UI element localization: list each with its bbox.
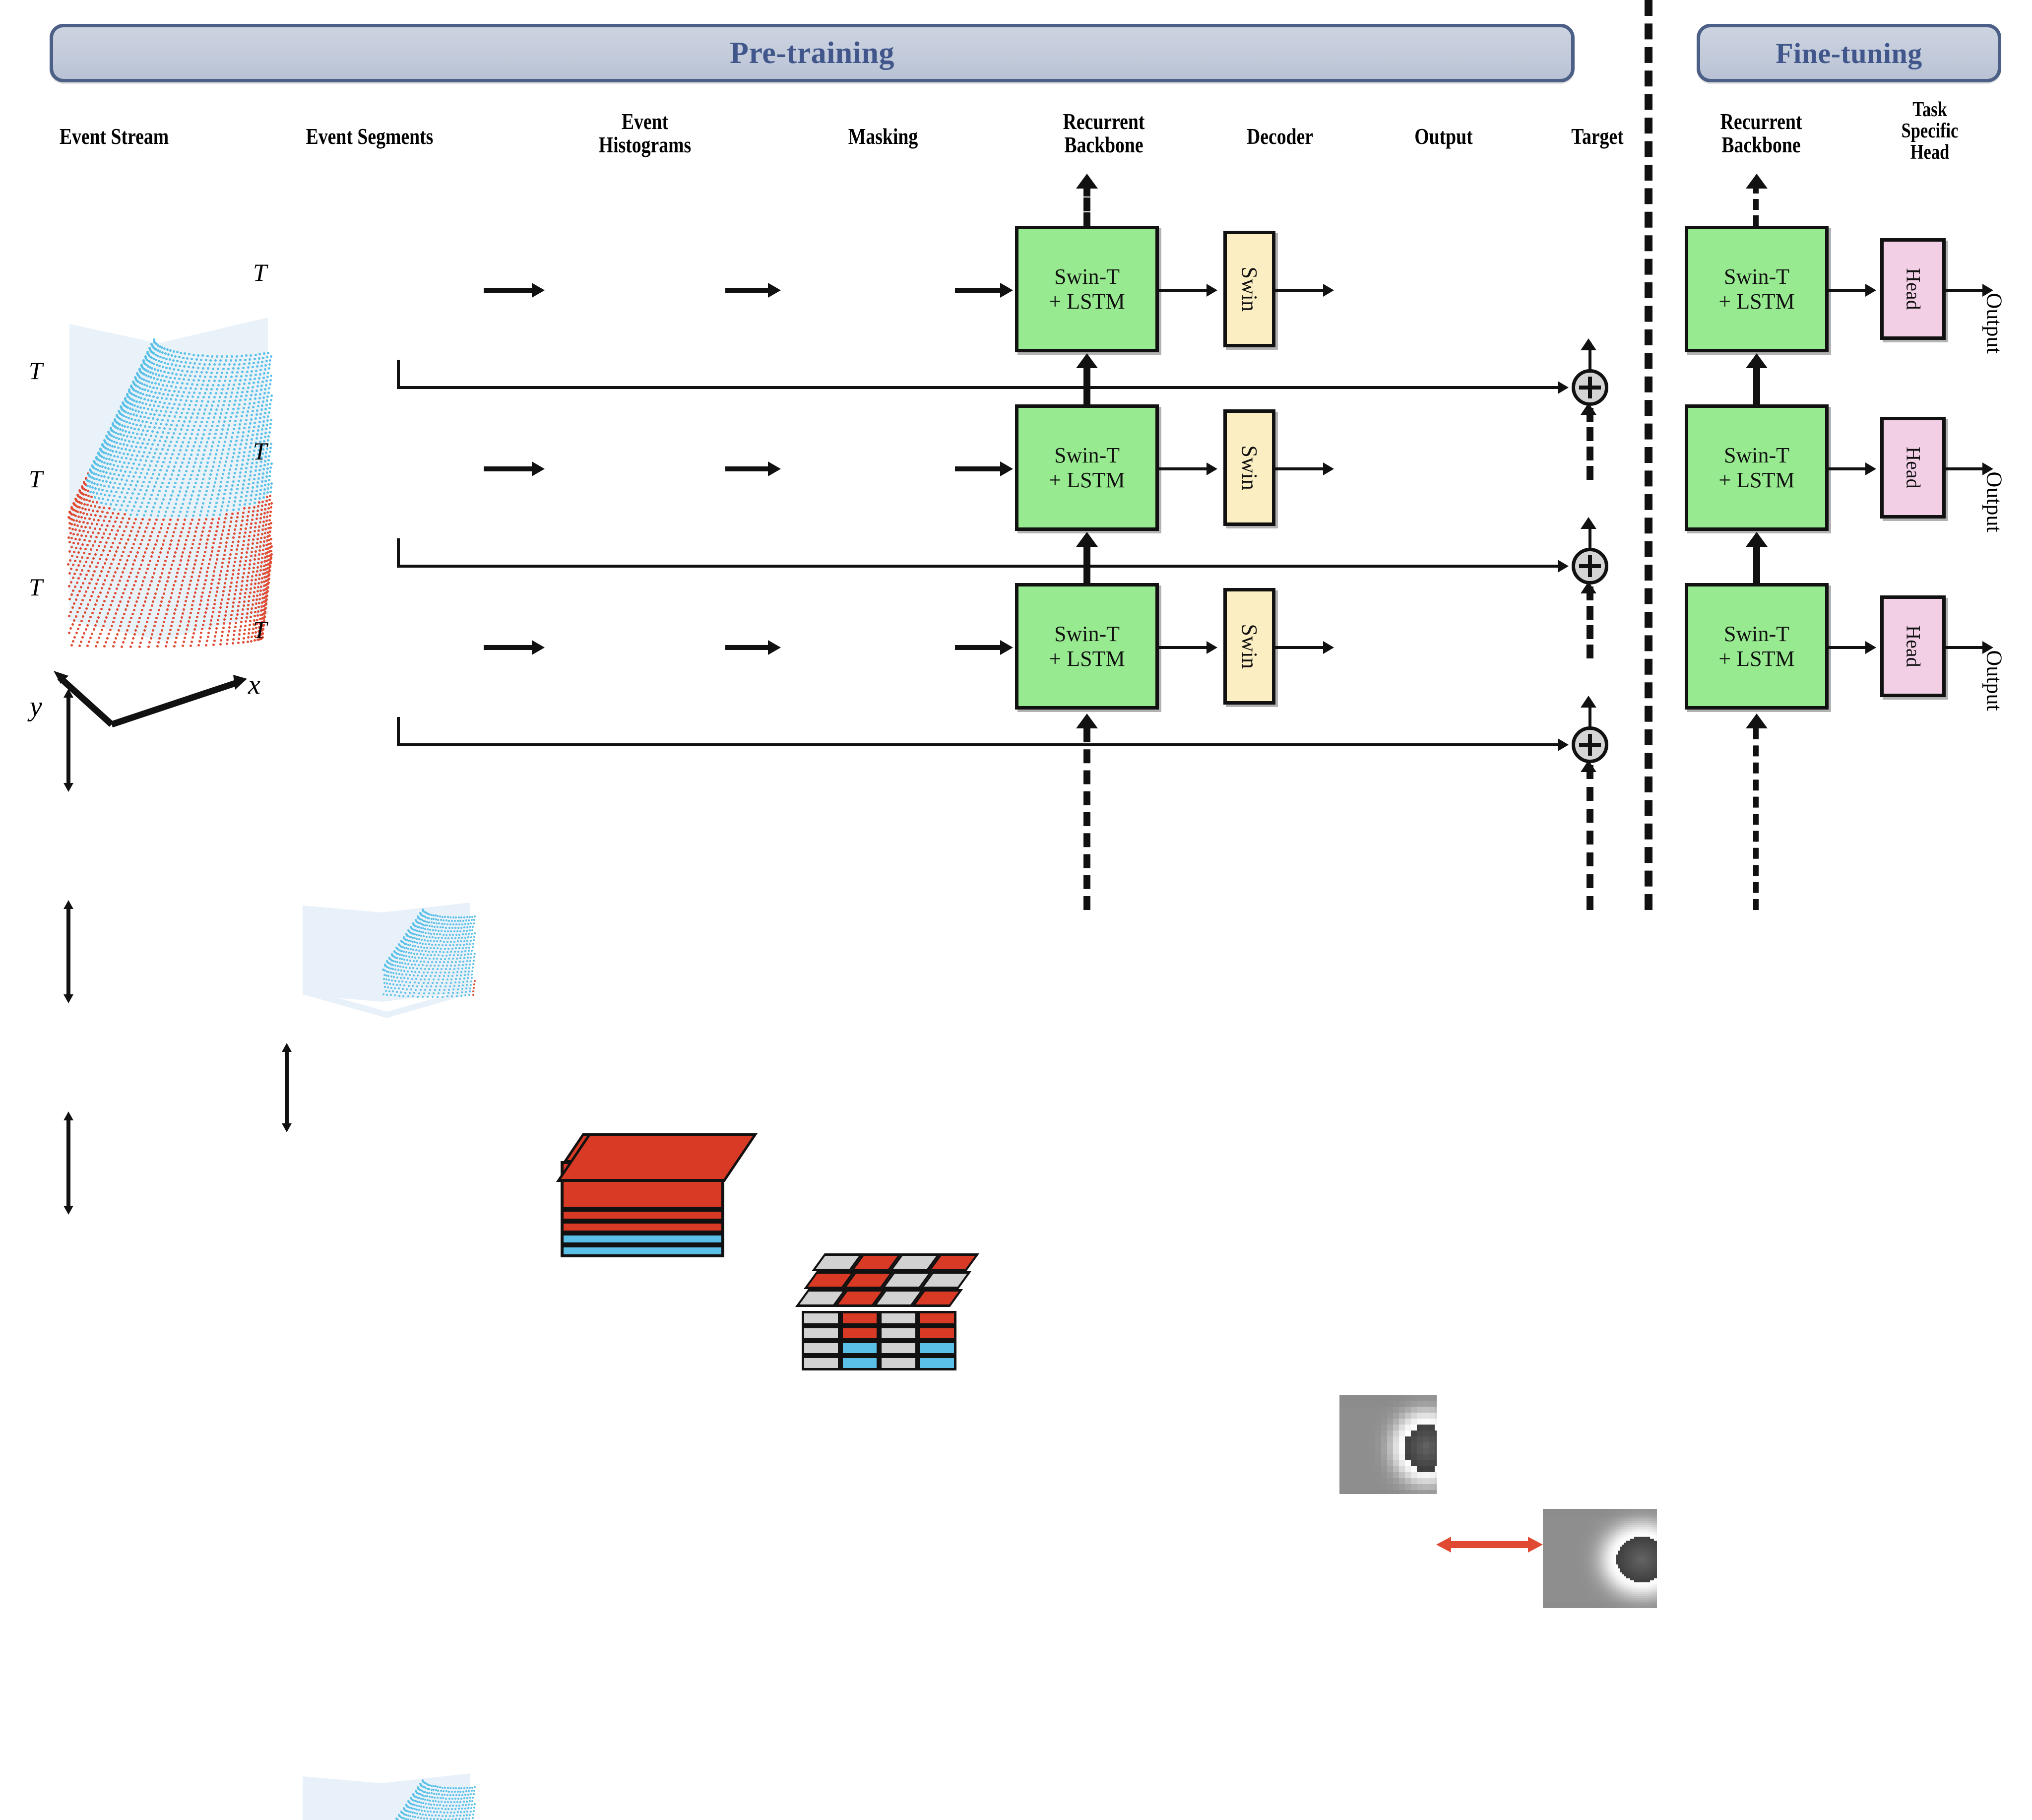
arrow-backbone-to-decoder-3 [1159, 646, 1208, 649]
header-decoder: Decoder [1206, 125, 1353, 148]
ft-dashed-bottom-in [1753, 728, 1759, 910]
skip-line-horz-3 [397, 743, 1560, 746]
arrowhead-backbone-to-decoder-3 [1206, 641, 1217, 654]
decoder-box-2[interactable]: Swin [1223, 409, 1275, 526]
mask-face-cell [802, 1326, 840, 1341]
arrowhead-mask-to-backbone-3 [1000, 640, 1013, 655]
ft-arrow-head-to-output-3 [1946, 646, 1984, 649]
sum-dashed-input-3 [1587, 765, 1593, 910]
stream-t-label-1: T [29, 356, 43, 385]
ft-head-box-2[interactable]: Head [1880, 417, 1946, 519]
ft-backbone-box-3[interactable]: Swin-T + LSTM [1685, 583, 1829, 710]
header-recurrent-backbone: Recurrent Backbone [1020, 110, 1187, 157]
mask-face-cell [918, 1341, 956, 1356]
ft-backbone-label-3: Swin-T + LSTM [1718, 622, 1794, 671]
decoder-label-3: Swin [1237, 624, 1262, 668]
segment-t-label-1: T [253, 258, 267, 287]
arrow-mask-to-backbone-1 [955, 288, 1002, 293]
mask-face-cell [840, 1326, 879, 1341]
ft-recurrent-arrowhead-2-to-1 [1746, 353, 1768, 368]
skip-line-horz-2 [397, 565, 1560, 568]
ft-dashed-top-out [1753, 183, 1759, 226]
arrowhead-segment-to-histogram-2 [532, 461, 545, 476]
ft-backbone-label-2: Swin-T + LSTM [1718, 443, 1794, 492]
mask-face-cell [802, 1341, 840, 1356]
pretraining-banner-label: Pre-training [730, 36, 894, 71]
finetuning-banner: Fine-tuning [1697, 24, 2001, 82]
arrowhead-histogram-to-mask-1 [768, 283, 781, 298]
arrow-decoder-to-output-3 [1275, 646, 1325, 649]
ft-arrowhead-backbone-to-head-2 [1865, 462, 1876, 475]
ft-dashed-bottom-arrowhead [1746, 714, 1768, 728]
header-output: Output [1370, 125, 1517, 148]
mask-face-cell [802, 1311, 840, 1326]
arrow-backbone-to-decoder-1 [1159, 289, 1208, 292]
ft-dashed-top-arrowhead [1746, 174, 1768, 189]
ft-head-box-1[interactable]: Head [1880, 238, 1946, 340]
header-target: Target [1524, 125, 1670, 148]
ft-output-label-1: Output [1982, 293, 2007, 354]
arrowhead-histogram-to-mask-3 [768, 640, 781, 655]
arrowhead-mask-to-backbone-1 [1000, 283, 1013, 298]
sum-dashed-input-1 [1587, 408, 1593, 480]
ft-arrow-head-to-output-2 [1946, 467, 1984, 470]
decoder-label-2: Swin [1237, 445, 1262, 490]
arrowhead-backbone-to-decoder-1 [1206, 284, 1217, 297]
recurrent-line-2-to-1 [1083, 367, 1090, 407]
ft-recurrent-line-2-to-1 [1753, 367, 1760, 407]
event-point-cloud [64, 318, 273, 685]
skip-line-horz-1 [397, 386, 1560, 389]
ft-recurrent-line-3-to-2 [1753, 546, 1760, 585]
arrow-histogram-to-mask-1 [725, 288, 770, 293]
ft-recurrent-arrowhead-3-to-2 [1746, 532, 1768, 547]
skip-line-vert-2 [397, 538, 400, 566]
ft-arrow-head-to-output-1 [1946, 289, 1984, 292]
pretraining-banner: Pre-training [50, 24, 1575, 82]
ft-backbone-box-2[interactable]: Swin-T + LSTM [1685, 404, 1829, 531]
header-ft-task-specific-head: Task Specific Head [1869, 99, 1991, 163]
decoder-box-3[interactable]: Swin [1223, 588, 1275, 705]
arrow-backbone-to-decoder-2 [1159, 467, 1208, 470]
skip-line-vert-3 [397, 717, 400, 744]
sum-node-2 [1572, 548, 1608, 585]
event-segment-panel-2 [293, 1773, 476, 1820]
arrowhead-mask-to-backbone-2 [1000, 461, 1013, 476]
sum-to-target-arrowhead-1 [1581, 338, 1596, 350]
recurrent-arrowhead-2-to-1 [1076, 353, 1098, 368]
masked-cube-1 [789, 1252, 987, 1384]
arrow-decoder-to-output-1 [1275, 289, 1325, 292]
recurrent-arrowhead-3-to-2 [1076, 532, 1098, 547]
segment-t-label-2: T [253, 437, 267, 465]
arrow-segment-to-histogram-3 [484, 645, 533, 650]
arrowhead-histogram-to-mask-2 [768, 461, 781, 476]
compare-arrow-1 [1436, 1537, 1543, 1552]
backbone-dashed-top-arrowhead [1076, 174, 1098, 189]
mask-face-cell [918, 1356, 956, 1370]
ft-head-box-3[interactable]: Head [1880, 595, 1946, 697]
event-stream-volume [64, 318, 273, 685]
ft-backbone-label-1: Swin-T + LSTM [1718, 264, 1794, 314]
stream-t-label-3: T [29, 573, 43, 601]
target-image-1 [1543, 1509, 1657, 1608]
sum-node-3 [1572, 726, 1608, 763]
header-event-stream: Event Stream [20, 125, 207, 148]
backbone-label-2: Swin-T + LSTM [1049, 443, 1125, 492]
mask-face-cell [840, 1341, 879, 1356]
event-segment-panel-1 [293, 903, 476, 1037]
arrow-decoder-to-output-2 [1275, 467, 1325, 470]
ft-head-label-3: Head [1902, 625, 1924, 667]
axis-label-y: y [30, 691, 42, 722]
mask-face-cell [879, 1326, 918, 1341]
stream-axes [30, 645, 268, 734]
arrow-histogram-to-mask-2 [725, 466, 770, 471]
finetuning-banner-label: Fine-tuning [1776, 37, 1922, 70]
mask-face-cell [840, 1356, 879, 1370]
recurrent-line-3-to-2 [1083, 546, 1090, 585]
header-masking: Masking [806, 125, 960, 148]
skip-line-vert-1 [397, 360, 400, 387]
arrowhead-decoder-to-output-2 [1323, 462, 1334, 475]
ft-arrow-backbone-to-head-2 [1829, 467, 1867, 470]
arrowhead-segment-to-histogram-3 [532, 640, 545, 655]
backbone-label-1: Swin-T + LSTM [1049, 264, 1125, 314]
header-ft-recurrent-backbone: Recurrent Backbone [1680, 110, 1842, 157]
decoder-label-1: Swin [1237, 266, 1262, 311]
header-event-segments: Event Segments [272, 125, 467, 148]
arrow-mask-to-backbone-2 [955, 466, 1002, 471]
axis-label-x: x [248, 669, 260, 701]
sum-dashed-arrowhead-1 [1581, 403, 1596, 415]
ft-output-label-2: Output [1982, 472, 2007, 532]
backbone-box-2[interactable]: Swin-T + LSTM [1015, 404, 1159, 531]
sum-to-target-arrowhead-2 [1581, 517, 1596, 529]
output-image-1 [1339, 1395, 1437, 1494]
ft-arrowhead-backbone-to-head-3 [1865, 641, 1876, 654]
arrowhead-segment-to-histogram-1 [532, 283, 545, 298]
backbone-dashed-bottom-arrowhead [1076, 714, 1098, 728]
mask-face-cell [802, 1356, 840, 1370]
sum-dashed-arrowhead-3 [1581, 760, 1596, 772]
ft-backbone-box-1[interactable]: Swin-T + LSTM [1685, 226, 1829, 352]
mask-face-cell [879, 1311, 918, 1326]
arrow-histogram-to-mask-3 [725, 645, 770, 650]
mask-face-cell [918, 1311, 956, 1326]
skip-arrowhead-2 [1558, 560, 1569, 573]
backbone-dashed-top-out [1083, 183, 1090, 226]
backbone-box-3[interactable]: Swin-T + LSTM [1015, 583, 1159, 710]
ft-arrow-backbone-to-head-1 [1829, 289, 1867, 292]
backbone-label-3: Swin-T + LSTM [1049, 622, 1125, 671]
sum-to-target-arrowhead-3 [1581, 696, 1596, 708]
sum-dashed-input-2 [1587, 586, 1593, 658]
mask-face-cell [879, 1341, 918, 1356]
ft-head-label-2: Head [1902, 447, 1924, 488]
event-histogram-stack-1 [556, 1133, 764, 1257]
segment-t-arrow-1 [282, 1043, 292, 1132]
backbone-dashed-bottom-in [1083, 728, 1090, 910]
arrow-mask-to-backbone-3 [955, 645, 1002, 650]
segment-point-cloud-1 [293, 903, 476, 1037]
sum-dashed-arrowhead-2 [1581, 582, 1596, 593]
mask-face-cell [918, 1326, 956, 1341]
ft-arrowhead-backbone-to-head-1 [1865, 284, 1876, 297]
ft-arrow-backbone-to-head-3 [1829, 646, 1867, 649]
backbone-box-1[interactable]: Swin-T + LSTM [1015, 226, 1159, 352]
skip-arrowhead-3 [1558, 738, 1569, 751]
skip-arrowhead-1 [1558, 381, 1569, 394]
header-event-histograms: Event Histograms [558, 110, 733, 157]
ft-head-label-1: Head [1902, 268, 1924, 310]
decoder-box-1[interactable]: Swin [1223, 231, 1275, 347]
mask-face-cell [840, 1311, 879, 1326]
arrow-segment-to-histogram-1 [484, 288, 533, 293]
segment-t-label-3: T [253, 615, 267, 644]
stream-t-label-2: T [29, 464, 43, 493]
mask-face-cell [879, 1356, 918, 1370]
arrowhead-backbone-to-decoder-2 [1206, 462, 1217, 475]
arrowhead-decoder-to-output-3 [1323, 641, 1334, 654]
ft-output-label-3: Output [1982, 650, 2007, 711]
arrow-segment-to-histogram-2 [484, 466, 533, 471]
stream-t-arrow-2 [63, 900, 73, 1003]
segment-point-cloud-2 [293, 1773, 476, 1820]
sum-node-1 [1572, 369, 1608, 406]
stream-t-arrow-3 [63, 1111, 73, 1215]
arrowhead-decoder-to-output-1 [1323, 284, 1334, 297]
